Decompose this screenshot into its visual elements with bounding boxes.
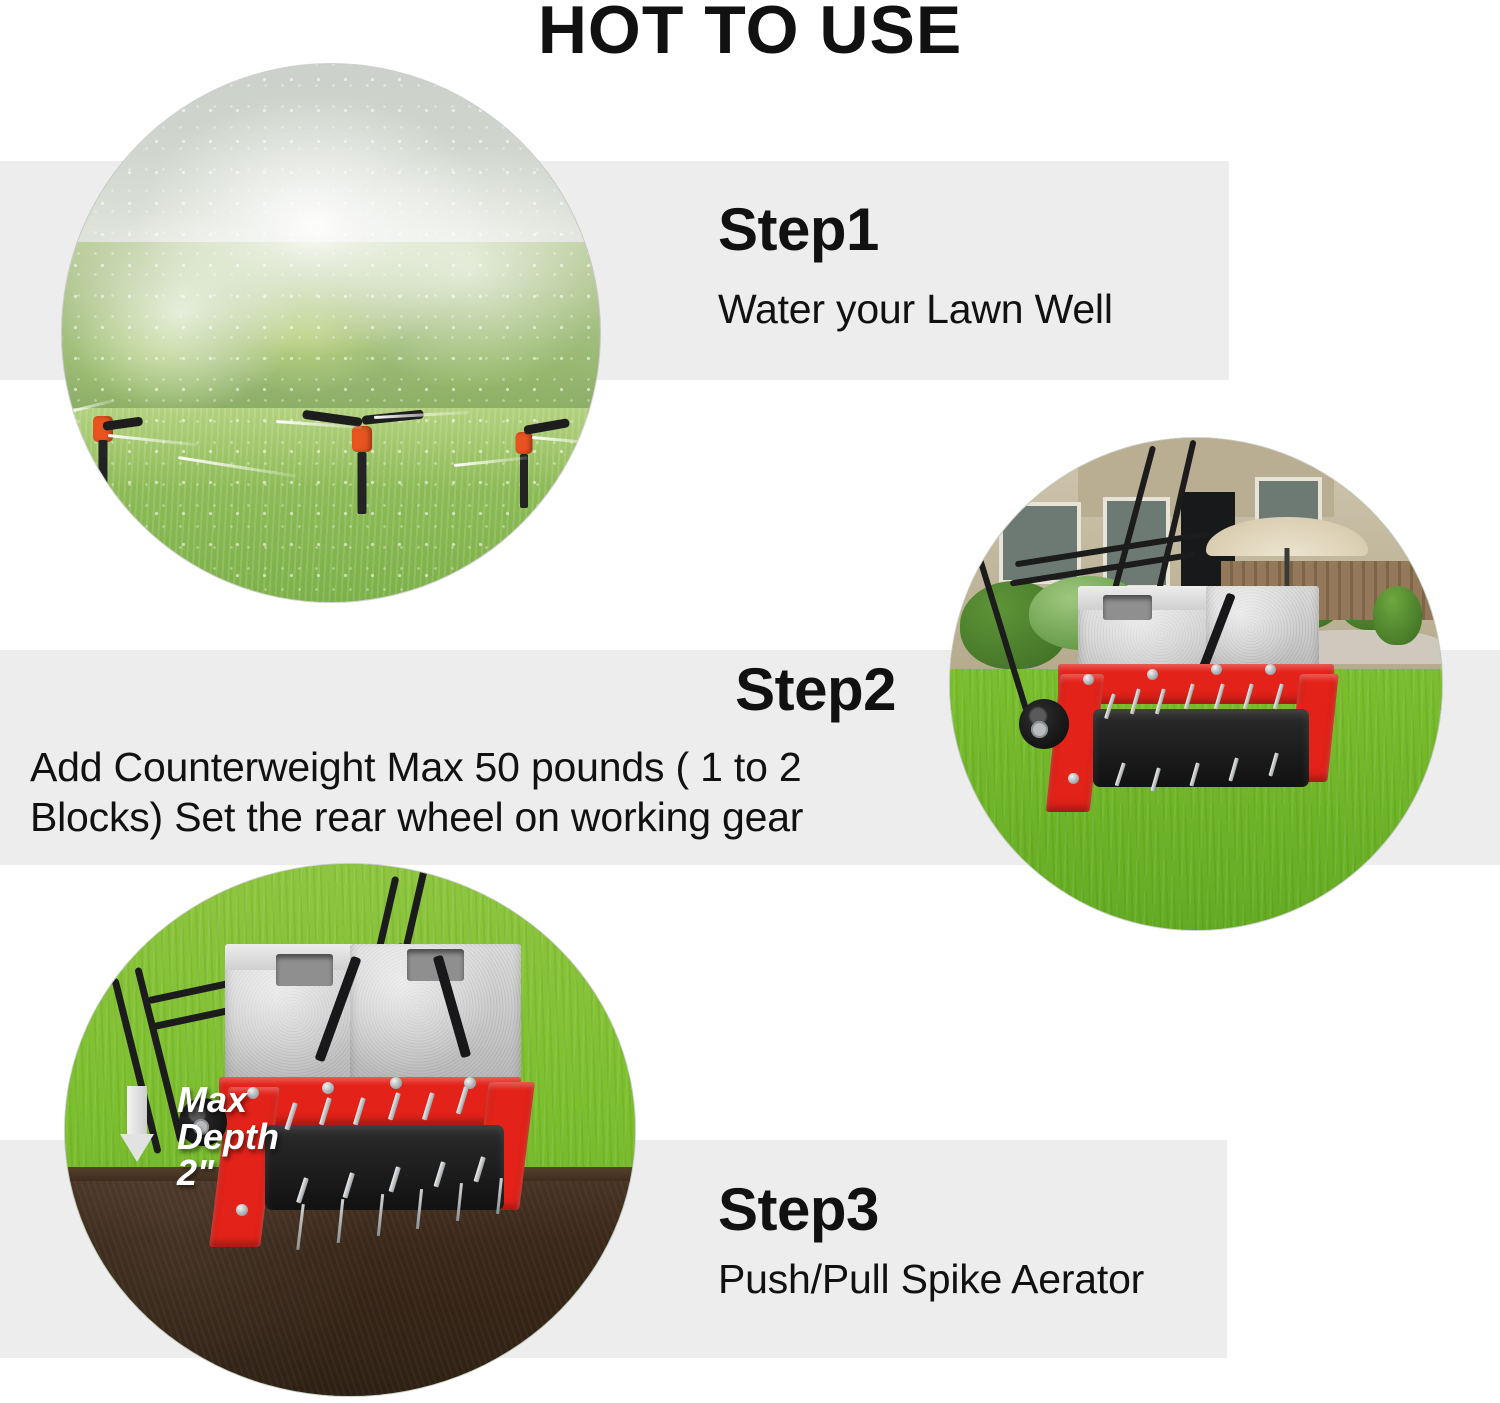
step2-body: Add Counterweight Max 50 pounds ( 1 to 2… [30, 742, 896, 842]
step2-heading: Step2 [30, 660, 896, 720]
step3-body: Push/Pull Spike Aerator [718, 1254, 1238, 1304]
step2-image [950, 438, 1442, 930]
step3-image: Max Depth 2" [65, 864, 635, 1396]
page-title: HOT TO USE [0, 0, 1500, 64]
infographic-page: HOT TO USE [0, 0, 1500, 1403]
step1-text: Step1 Water your Lawn Well [718, 200, 1238, 334]
step3-heading: Step3 [718, 1180, 1238, 1240]
step2-text: Step2 Add Counterweight Max 50 pounds ( … [30, 660, 896, 842]
step1-image [62, 64, 600, 602]
patio-umbrella [1206, 517, 1368, 556]
max-depth-callout: Max Depth 2" [177, 1082, 279, 1192]
sprinkler-head [88, 416, 118, 486]
step3-text: Step3 Push/Pull Spike Aerator [718, 1180, 1238, 1304]
step1-body: Water your Lawn Well [718, 284, 1238, 334]
step1-heading: Step1 [718, 200, 1238, 260]
